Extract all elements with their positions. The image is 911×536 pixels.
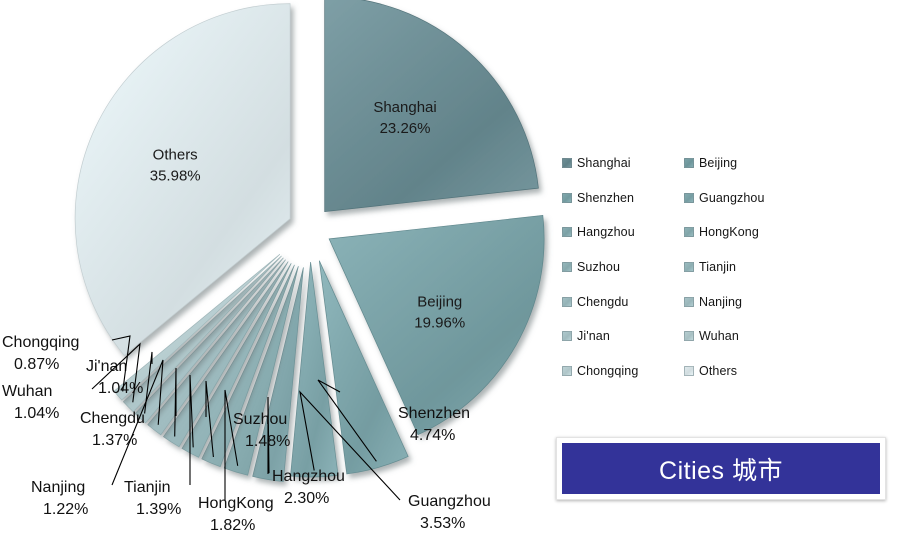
slice-label-value: 2.30% [284, 490, 329, 507]
slice-label-name: Shenzhen [398, 405, 470, 422]
slice-label-name: Suzhou [233, 411, 287, 428]
legend-label: HongKong [699, 225, 759, 239]
slice-label-value: 1.48% [245, 433, 290, 450]
legend-item-jinan[interactable]: Ji'nan [562, 319, 680, 354]
legend-swatch-icon [562, 262, 572, 272]
slice-label-value: 3.53% [420, 515, 465, 532]
legend-item-wuhan[interactable]: Wuhan [684, 319, 802, 354]
legend-item-shenzhen[interactable]: Shenzhen [562, 181, 680, 216]
slice-label-name: Others [153, 146, 198, 163]
legend-item-tianjin[interactable]: Tianjin [684, 250, 802, 285]
slice-label-value: 23.26% [380, 120, 431, 137]
legend-swatch-icon [562, 158, 572, 168]
legend-label: Hangzhou [577, 225, 635, 239]
slice-label-name: Wuhan [2, 383, 52, 400]
slice-label-value: 4.74% [410, 427, 455, 444]
slice-label-name: Tianjin [124, 479, 171, 496]
slice-label-name: Beijing [417, 293, 462, 310]
slice-label-name: Chongqing [2, 334, 79, 351]
slice-label-value: 1.04% [98, 380, 143, 397]
slice-label-value: 0.87% [14, 356, 59, 373]
title-plate: Cities 城市 [556, 437, 886, 500]
slice-label-name: Ji'nan [86, 358, 127, 375]
legend-label: Suzhou [577, 260, 620, 274]
legend-swatch-icon [684, 227, 694, 237]
legend-label: Wuhan [699, 329, 739, 343]
title-plate-fill: Cities 城市 [562, 443, 880, 494]
legend-swatch-icon [684, 158, 694, 168]
slice-label-value: 1.04% [14, 405, 59, 422]
slice-label-name: Guangzhou [408, 493, 491, 510]
legend-swatch-icon [562, 227, 572, 237]
legend-swatch-icon [562, 366, 572, 376]
legend-label: Guangzhou [699, 191, 765, 205]
legend-label: Shanghai [577, 156, 631, 170]
legend-item-chengdu[interactable]: Chengdu [562, 284, 680, 319]
slice-label-value: 1.39% [136, 501, 181, 518]
legend-swatch-icon [684, 331, 694, 341]
legend-item-hangzhou[interactable]: Hangzhou [562, 215, 680, 250]
legend-swatch-icon [562, 331, 572, 341]
legend-label: Others [699, 364, 737, 378]
legend-item-hongkong[interactable]: HongKong [684, 215, 802, 250]
legend-item-others[interactable]: Others [684, 354, 802, 389]
slice-label-value: 35.98% [150, 167, 201, 184]
slice-label-name: Nanjing [31, 479, 85, 496]
legend-swatch-icon [684, 297, 694, 307]
legend-item-chongqing[interactable]: Chongqing [562, 354, 680, 389]
legend-swatch-icon [562, 297, 572, 307]
legend-swatch-icon [684, 193, 694, 203]
legend-label: Chengdu [577, 295, 628, 309]
legend-label: Ji'nan [577, 329, 610, 343]
legend-swatch-icon [684, 262, 694, 272]
slice-label-value: 1.82% [210, 517, 255, 534]
legend-swatch-icon [562, 193, 572, 203]
legend-item-nanjing[interactable]: Nanjing [684, 284, 802, 319]
legend-item-guangzhou[interactable]: Guangzhou [684, 181, 802, 216]
legend-label: Tianjin [699, 260, 736, 274]
legend-item-beijing[interactable]: Beijing [684, 146, 802, 181]
chart-title: Cities 城市 [659, 451, 783, 487]
chart-legend: ShanghaiBeijingShenzhenGuangzhouHangzhou… [562, 146, 820, 386]
legend-label: Chongqing [577, 364, 638, 378]
legend-label: Beijing [699, 156, 737, 170]
slice-label-name: HongKong [198, 495, 274, 512]
slice-label-name: Chengdu [80, 410, 145, 427]
legend-label: Nanjing [699, 295, 742, 309]
legend-label: Shenzhen [577, 191, 634, 205]
slice-label-value: 1.22% [43, 501, 88, 518]
legend-item-shanghai[interactable]: Shanghai [562, 146, 680, 181]
slice-label-name: Shanghai [373, 99, 436, 116]
chart-canvas: Shanghai23.26%Beijing19.96%Others35.98%S… [0, 0, 911, 536]
legend-swatch-icon [684, 366, 694, 376]
slice-label-value: 19.96% [414, 314, 465, 331]
legend-item-suzhou[interactable]: Suzhou [562, 250, 680, 285]
slice-label-name: Hangzhou [272, 468, 345, 485]
